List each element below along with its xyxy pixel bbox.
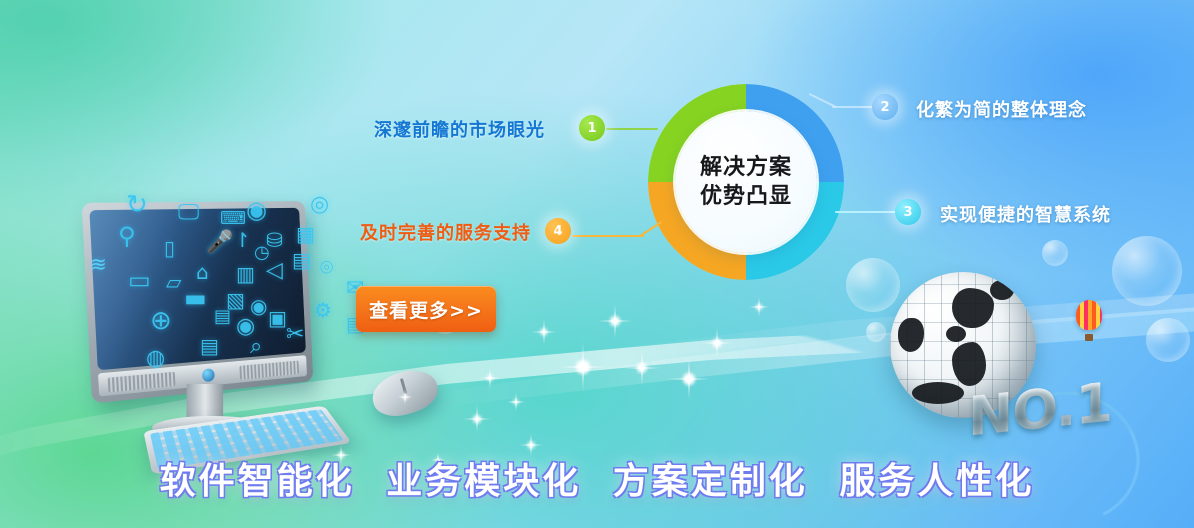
tagline-segment-3: 方案定制化 (613, 461, 808, 502)
headphones-icon: ⌾ (320, 258, 333, 280)
tagline-segment-2: 业务模块化 (386, 461, 581, 502)
sparkle (596, 302, 634, 340)
landmass (946, 326, 966, 342)
callout-label-4: 及时完善的服务支持 (360, 219, 531, 245)
sparkle (462, 404, 492, 434)
sparkle (478, 366, 502, 390)
donut-center-line2: 优势凸显 (700, 182, 792, 211)
donut-center-label: 解决方案 优势凸显 (675, 111, 817, 253)
landmass (912, 382, 964, 404)
bubble (1042, 240, 1068, 266)
sparkle (506, 392, 526, 412)
sparkle (748, 296, 770, 318)
landmass (990, 280, 1014, 300)
solution-donut-chart: 解决方案 优势凸显 (648, 84, 844, 280)
monitor-body (81, 201, 313, 403)
callout-badge-2[interactable]: 2 (872, 94, 898, 120)
sparkle (530, 318, 558, 346)
sparkle (700, 326, 734, 360)
callout-badge-1[interactable]: 1 (579, 115, 605, 141)
hot-air-balloon-icon (1076, 300, 1102, 344)
view-more-button[interactable]: 查看更多>> (356, 286, 496, 332)
desktop-monitor-illustration: ↻ 🖵 ⌨ ◉ ◎ ▦ ⚲ ≋ ▯ 🎤 ↾ ⛁ ▤ ⌾ ▭ ▱ ⌂ ▥ ◁ ◷ … (78, 196, 378, 446)
sparkle (556, 340, 610, 394)
sparkle (666, 356, 712, 402)
balloon-envelope (1076, 300, 1102, 330)
callout-badge-3[interactable]: 3 (895, 199, 921, 225)
promo-banner: ↻ 🖵 ⌨ ◉ ◎ ▦ ⚲ ≋ ▯ 🎤 ↾ ⛁ ▤ ⌾ ▭ ▱ ⌂ ▥ ◁ ◷ … (0, 0, 1194, 528)
mouse-illustration (367, 364, 442, 423)
banner-tagline: 软件智能化 业务模块化 方案定制化 服务人性化 (0, 452, 1194, 504)
globe-illustration: NO.1 (880, 272, 1110, 472)
bubble (1112, 236, 1182, 306)
callout-label-3: 实现便捷的智慧系统 (940, 201, 1111, 227)
callout-label-2: 化繁为简的整体理念 (916, 96, 1087, 122)
callout-badge-4[interactable]: 4 (545, 218, 571, 244)
gear-icon: ⚙ (314, 300, 332, 320)
tagline-segment-4: 服务人性化 (839, 461, 1034, 502)
monitor-screen (89, 208, 306, 370)
balloon-basket (1085, 334, 1093, 341)
sparkle (622, 348, 662, 388)
speaker-icon: ◎ (310, 194, 329, 216)
landmass (952, 342, 986, 386)
tagline-segment-1: 软件智能化 (160, 461, 355, 502)
connector-line-3 (835, 211, 897, 213)
bubble (1146, 318, 1190, 362)
donut-center-line1: 解决方案 (700, 153, 792, 182)
callout-label-1: 深邃前瞻的市场眼光 (374, 116, 545, 142)
connector-line-4a (572, 235, 644, 237)
